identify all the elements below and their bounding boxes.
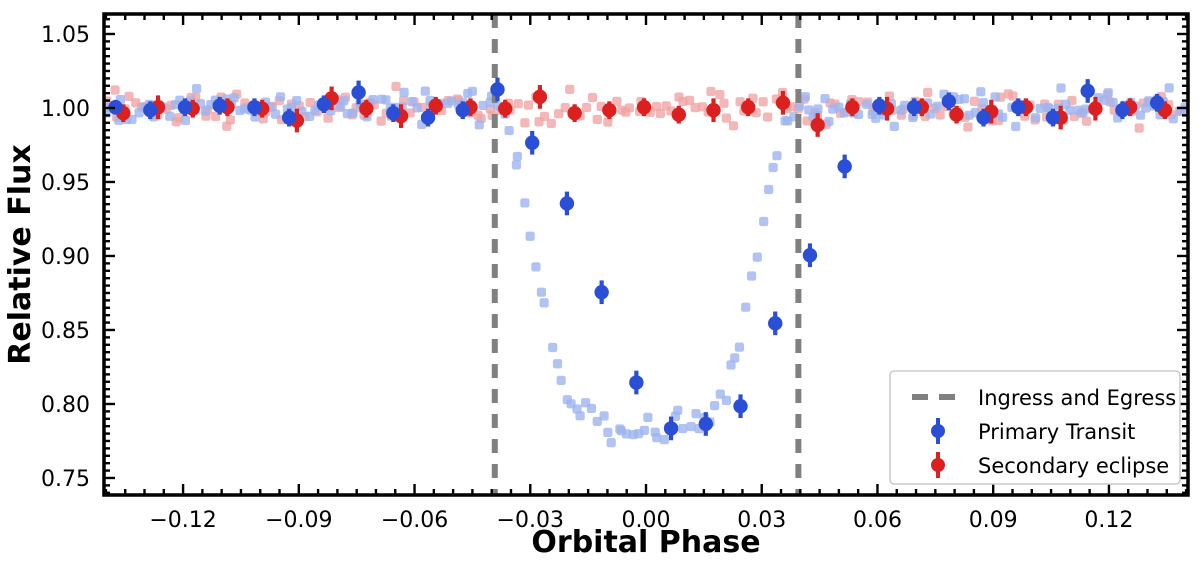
x-tick-label: −0.09 bbox=[265, 508, 332, 533]
y-axis-title: Relative Flux bbox=[3, 144, 38, 364]
binned-point bbox=[637, 100, 651, 114]
binned-point bbox=[429, 99, 443, 113]
binned-point bbox=[359, 102, 373, 116]
x-tick-label: 0.09 bbox=[969, 508, 1018, 533]
binned-point bbox=[768, 316, 782, 330]
plot-canvas: −0.12−0.09−0.06−0.030.000.030.060.090.12… bbox=[0, 0, 1200, 562]
legend-label: Primary Transit bbox=[978, 420, 1135, 444]
legend-label: Secondary eclipse bbox=[978, 454, 1169, 478]
binned-point bbox=[1011, 100, 1025, 114]
binned-point bbox=[1046, 110, 1060, 124]
binned-point bbox=[533, 90, 547, 104]
binned-point bbox=[976, 110, 990, 124]
binned-point bbox=[672, 107, 686, 121]
y-tick-label: 0.85 bbox=[41, 319, 90, 344]
binned-point bbox=[733, 399, 747, 413]
binned-point bbox=[942, 94, 956, 108]
binned-point bbox=[247, 100, 261, 114]
y-tick-label: 0.75 bbox=[41, 467, 90, 492]
x-axis-title: Orbital Phase bbox=[531, 525, 760, 560]
binned-point bbox=[490, 82, 504, 96]
binned-point bbox=[837, 159, 851, 173]
binned-point bbox=[178, 100, 192, 114]
binned-point bbox=[213, 99, 227, 113]
binned-point bbox=[421, 110, 435, 124]
transit-lightcurve-figure: −0.12−0.09−0.06−0.030.000.030.060.090.12… bbox=[0, 0, 1200, 562]
legend: Ingress and EgressPrimary TransitSeconda… bbox=[890, 371, 1180, 484]
y-tick-label: 1.05 bbox=[41, 23, 90, 48]
binned-point bbox=[741, 100, 755, 114]
x-tick-label: 0.06 bbox=[853, 508, 902, 533]
binned-point bbox=[498, 102, 512, 116]
binned-point bbox=[602, 103, 616, 117]
binned-point bbox=[1088, 102, 1102, 116]
binned-point bbox=[1115, 103, 1129, 117]
x-tick-label: −0.12 bbox=[149, 508, 216, 533]
binned-point bbox=[664, 421, 678, 435]
binned-point bbox=[143, 103, 157, 117]
binned-point bbox=[594, 285, 608, 299]
binned-point bbox=[525, 136, 539, 150]
y-tick-label: 1.00 bbox=[41, 97, 90, 122]
binned-point bbox=[386, 106, 400, 120]
binned-point bbox=[317, 97, 331, 111]
binned-point bbox=[872, 99, 886, 113]
x-tick-label: 0.12 bbox=[1084, 508, 1133, 533]
binned-point bbox=[351, 85, 365, 99]
binned-point bbox=[456, 103, 470, 117]
legend-marker-swatch bbox=[931, 424, 945, 438]
binned-point bbox=[567, 106, 581, 120]
binned-point bbox=[776, 96, 790, 110]
binned-point bbox=[706, 103, 720, 117]
binned-point bbox=[699, 417, 713, 431]
y-tick-label: 0.95 bbox=[41, 171, 90, 196]
binned-point bbox=[1150, 96, 1164, 110]
binned-point bbox=[282, 110, 296, 124]
binned-point bbox=[845, 100, 859, 114]
legend-marker-swatch bbox=[931, 458, 945, 472]
y-tick-label: 0.80 bbox=[41, 393, 90, 418]
binned-point bbox=[907, 100, 921, 114]
binned-point bbox=[810, 118, 824, 132]
binned-point bbox=[629, 375, 643, 389]
y-tick-label: 0.90 bbox=[41, 245, 90, 270]
x-tick-label: −0.06 bbox=[381, 508, 448, 533]
legend-label: Ingress and Egress bbox=[978, 386, 1176, 410]
binned-point bbox=[1081, 84, 1095, 98]
binned-point bbox=[949, 107, 963, 121]
binned-point bbox=[803, 248, 817, 262]
binned-point bbox=[560, 196, 574, 210]
